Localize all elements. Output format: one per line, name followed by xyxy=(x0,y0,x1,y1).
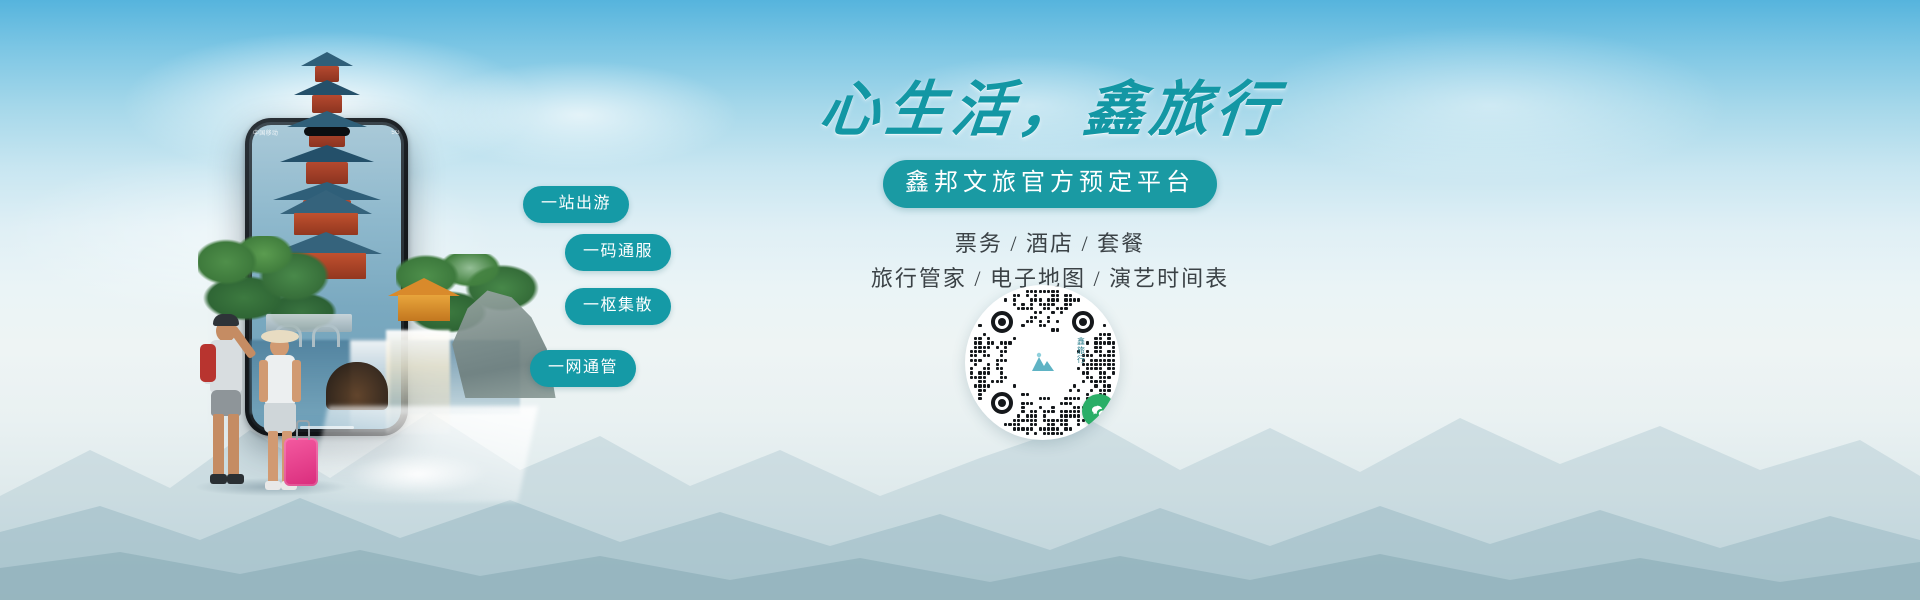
qr-code-icon[interactable]: 鑫旅行 xyxy=(965,285,1120,440)
traveler-couple-icon xyxy=(188,298,336,490)
qr-brand-label: 鑫旅行 xyxy=(1076,337,1085,364)
brand-mountain-icon xyxy=(1030,350,1056,376)
feature-pill-1[interactable]: 一站出游 xyxy=(523,186,629,223)
qr-center-logo: 鑫旅行 xyxy=(1015,335,1071,391)
qr-finder-icon xyxy=(1072,311,1094,333)
phone-home-indicator xyxy=(300,426,354,429)
cloud-icon xyxy=(1250,25,1730,185)
hero-composite-image: 中国移动 5G xyxy=(150,40,710,510)
phone-notch xyxy=(304,127,350,136)
feature-pill-label: 一网通管 xyxy=(548,359,618,376)
platform-badge: 鑫邦文旅官方预定平台 xyxy=(883,160,1217,208)
feature-pill-3[interactable]: 一枢集散 xyxy=(565,288,671,325)
feature-pill-label: 一枢集散 xyxy=(583,297,653,314)
wechat-icon xyxy=(1082,394,1116,428)
phone-carrier-label: 中国移动 xyxy=(253,128,278,137)
backpack-icon xyxy=(200,344,216,382)
page-title: 心生活，鑫旅行 xyxy=(817,80,1283,140)
promo-text-block: 心生活，鑫旅行 鑫邦文旅官方预定平台 票务 / 酒店 / 套餐 旅行管家 / 电… xyxy=(820,80,1280,296)
qr-code-circle: 鑫旅行 xyxy=(965,285,1120,440)
suitcase-icon xyxy=(284,438,318,486)
promo-banner: 中国移动 5G xyxy=(0,0,1920,600)
foliage-icon xyxy=(396,254,546,374)
feature-pill-4[interactable]: 一网通管 xyxy=(530,350,636,387)
feature-pill-label: 一站出游 xyxy=(541,195,611,212)
service-line-1: 票务 / 酒店 / 套餐 xyxy=(820,226,1280,261)
qr-finder-icon xyxy=(991,311,1013,333)
feature-pill-label: 一码通服 xyxy=(583,243,653,260)
feature-pill-2[interactable]: 一码通服 xyxy=(565,234,671,271)
qr-finder-icon xyxy=(991,392,1013,414)
phone-network-label: 5G xyxy=(391,130,400,136)
